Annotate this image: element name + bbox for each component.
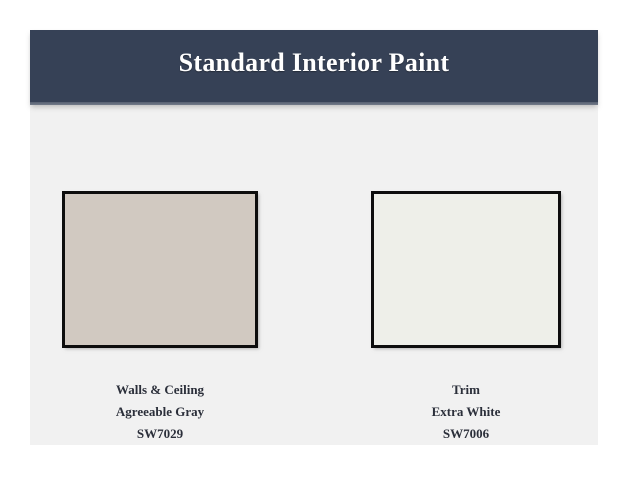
swatch-use-label: Trim: [371, 379, 561, 401]
color-swatch-extra-white: [371, 191, 561, 348]
swatch-caption-walls-ceiling: Walls & Ceiling Agreeable Gray SW7029: [62, 379, 258, 445]
swatch-use-label: Walls & Ceiling: [62, 379, 258, 401]
swatch-color-code: SW7006: [371, 423, 561, 445]
swatch-color-name: Extra White: [371, 401, 561, 423]
swatch-group-trim: Trim Extra White SW7006: [371, 191, 561, 445]
swatch-color-code: SW7029: [62, 423, 258, 445]
page-title: Standard Interior Paint: [30, 48, 598, 78]
swatch-color-name: Agreeable Gray: [62, 401, 258, 423]
swatch-caption-trim: Trim Extra White SW7006: [371, 379, 561, 445]
slide-canvas: Standard Interior Paint Walls & Ceiling …: [30, 30, 598, 445]
swatch-group-walls-ceiling: Walls & Ceiling Agreeable Gray SW7029: [62, 191, 258, 445]
color-swatch-agreeable-gray: [62, 191, 258, 348]
title-banner: Standard Interior Paint: [30, 30, 598, 105]
